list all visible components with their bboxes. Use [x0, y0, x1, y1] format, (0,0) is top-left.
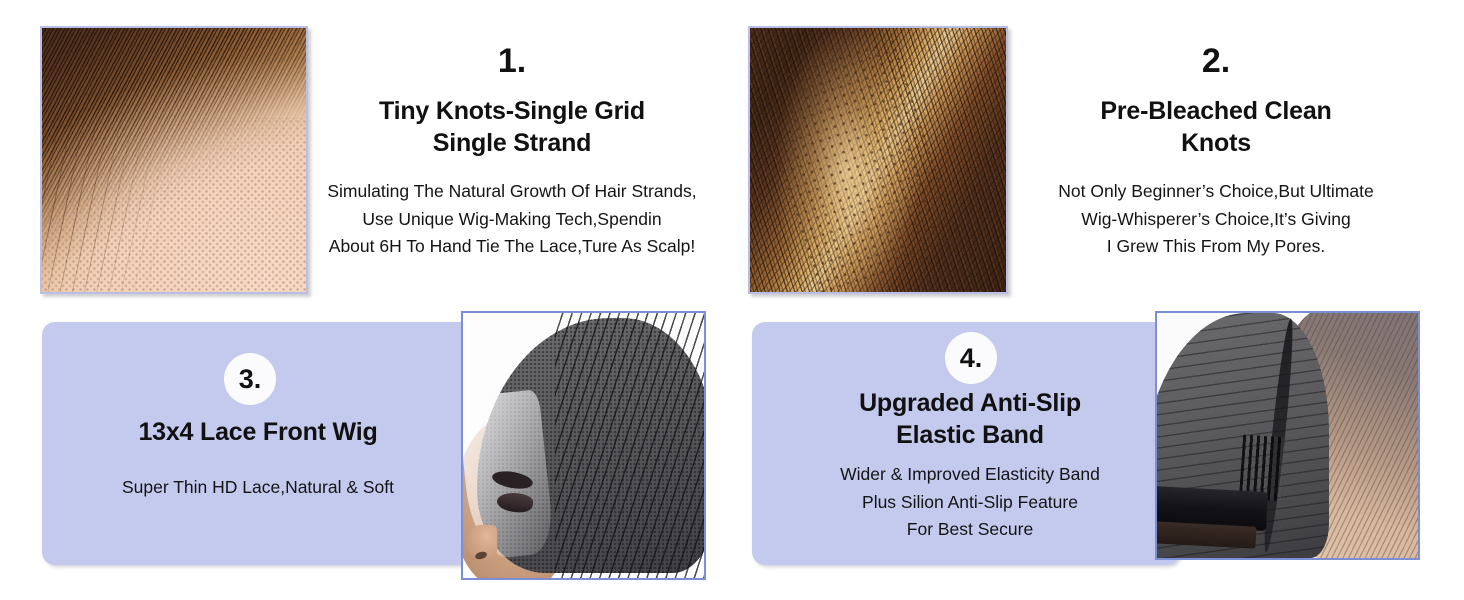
knots-on-lace-photo [42, 28, 306, 292]
pre-bleached-knots-photo [750, 28, 1006, 292]
panel-4-headline: Upgraded Anti-Slip Elastic Band [782, 388, 1158, 451]
panel-4-number-badge: 4. [945, 332, 997, 384]
panel-1-headline-line-2: Single Strand [332, 128, 692, 160]
panel-2-body-line-1: Not Only Beginner’s Choice,But Ultimate [1008, 178, 1424, 206]
wig-cap-wefts [555, 313, 706, 578]
panel-4-body: Wider & Improved Elasticity Band Plus Si… [772, 461, 1168, 544]
feature-image-4 [1155, 311, 1420, 560]
panel-2-headline-line-2: Knots [1036, 128, 1396, 160]
panel-1-body-line-1: Simulating The Natural Growth Of Hair St… [306, 178, 718, 206]
panel-1-body: Simulating The Natural Growth Of Hair St… [306, 178, 718, 261]
lace-front-wig-cap-photo [463, 313, 704, 578]
baby-hair-wisps [42, 28, 306, 292]
panel-1-number: 1. [352, 44, 672, 78]
feature-image-3 [461, 311, 706, 580]
panel-2-body-line-3: I Grew This From My Pores. [1008, 233, 1424, 261]
panel-4-headline-line-1: Upgraded Anti-Slip [782, 388, 1158, 420]
panel-2-number: 2. [1056, 44, 1376, 78]
feature-image-1 [40, 26, 308, 294]
panel-3-headline: 13x4 Lace Front Wig [72, 417, 444, 449]
panel-1-body-line-3: About 6H To Hand Tie The Lace,Ture As Sc… [306, 233, 718, 261]
panel-3-number-badge: 3. [224, 353, 276, 405]
panel-3-body: Super Thin HD Lace,Natural & Soft [56, 474, 460, 502]
panel-4-body-line-2: Plus Silion Anti-Slip Feature [772, 489, 1168, 517]
product-feature-infographic: 1. Tiny Knots-Single Grid Single Strand … [0, 0, 1464, 600]
panel-2-body-line-2: Wig-Whisperer’s Choice,It’s Giving [1008, 206, 1424, 234]
panel-3-headline-line-1: 13x4 Lace Front Wig [72, 417, 444, 449]
panel-4-headline-line-2: Elastic Band [782, 420, 1158, 452]
panel-2-headline: Pre-Bleached Clean Knots [1036, 96, 1396, 159]
panel-2-body: Not Only Beginner’s Choice,But Ultimate … [1008, 178, 1424, 261]
panel-1-body-line-2: Use Unique Wig-Making Tech,Spendin [306, 206, 718, 234]
panel-2-headline-line-1: Pre-Bleached Clean [1036, 96, 1396, 128]
panel-4-body-line-3: For Best Secure [772, 516, 1168, 544]
feature-image-2 [748, 26, 1008, 294]
panel-1-headline: Tiny Knots-Single Grid Single Strand [332, 96, 692, 159]
panel-3-body-line-1: Super Thin HD Lace,Natural & Soft [56, 474, 460, 502]
panel-1-headline-line-1: Tiny Knots-Single Grid [332, 96, 692, 128]
panel-4-body-line-1: Wider & Improved Elasticity Band [772, 461, 1168, 489]
anti-slip-elastic-band-photo [1157, 313, 1418, 558]
